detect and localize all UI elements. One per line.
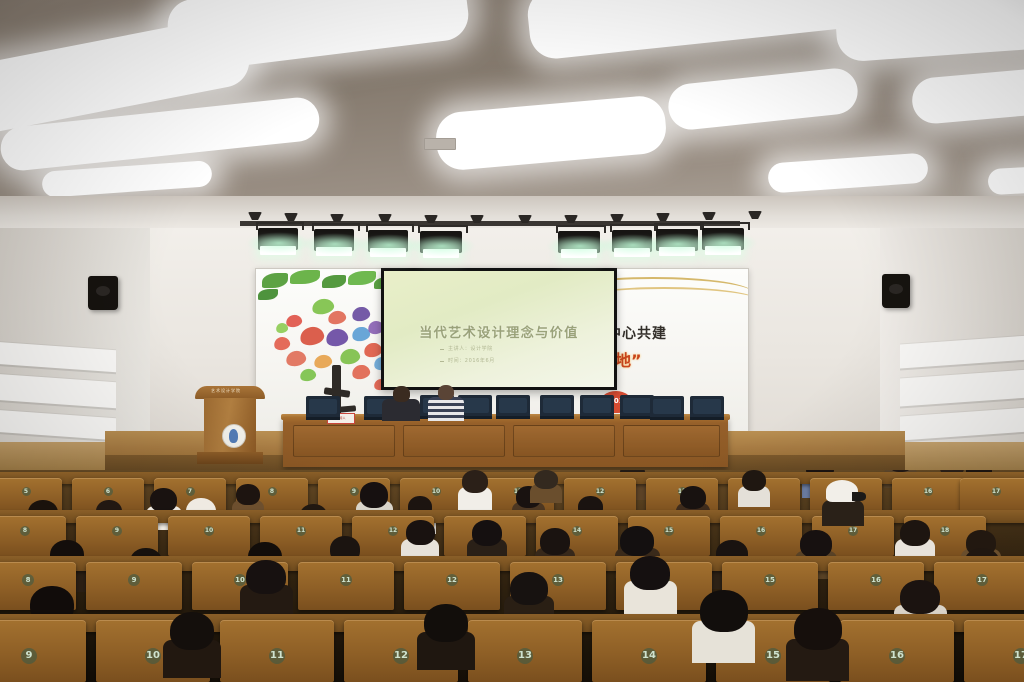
panelist-torso <box>428 397 464 421</box>
ceiling-light-panel-4 <box>834 0 1024 63</box>
seat-back[interactable]: 10 <box>168 516 250 556</box>
cap-brim <box>852 492 866 501</box>
audience-member <box>794 608 842 682</box>
ceiling-lower-band <box>0 196 1024 232</box>
audience-member-head <box>540 528 570 555</box>
seat-number: 9 <box>350 487 359 496</box>
audience-member-head <box>800 530 832 558</box>
panelist-head <box>438 385 454 400</box>
seat-number: 16 <box>924 487 933 496</box>
audience-member-head <box>900 580 940 614</box>
seat-number: 13 <box>517 648 533 664</box>
capped-person-torso <box>822 500 864 526</box>
seat-number: 16 <box>889 648 905 664</box>
audience-member-head <box>620 526 654 556</box>
stage-chair-6 <box>540 395 574 419</box>
head-table: 主持人 <box>283 417 728 467</box>
seat-back[interactable]: 11 <box>220 620 334 682</box>
seat-number: 8 <box>268 487 277 496</box>
seat-back[interactable]: 9 <box>0 620 86 682</box>
seat-number: 17 <box>1013 648 1024 664</box>
seat-number: 9 <box>112 526 122 536</box>
panelist-head <box>393 386 410 402</box>
seat-number: 5 <box>22 487 31 496</box>
seat-number: 7 <box>186 487 195 496</box>
seat-number: 15 <box>765 648 781 664</box>
audience-member <box>700 590 748 670</box>
seat-back[interactable]: 16 <box>840 620 954 682</box>
seat-number: 17 <box>992 487 1001 496</box>
audience-member-head <box>700 590 748 632</box>
seat-number: 6 <box>104 487 113 496</box>
speaker-podium: 艺术设计学院 <box>199 386 261 464</box>
seat-back[interactable]: 11 <box>298 562 394 610</box>
seat-back[interactable]: 13 <box>468 620 582 682</box>
stage-chair-10 <box>690 396 724 420</box>
left-wall-speaker <box>88 276 118 310</box>
auditorium-photo: 血液中心共建 育基地” 式 2016 当代艺术设计理念与价值 主讲人：设计学院 … <box>0 0 1024 682</box>
audience-member-head <box>794 608 842 650</box>
stage-chair-9 <box>650 396 684 420</box>
seat-back[interactable]: 12 <box>404 562 500 610</box>
audience-member-head <box>900 520 930 546</box>
seat-number: 11 <box>269 648 285 664</box>
audience-member <box>170 612 214 682</box>
audience-member-head <box>360 482 388 508</box>
audience-member-head <box>510 572 548 605</box>
panelist-right <box>428 385 464 424</box>
ceiling-light-panel-11 <box>987 163 1024 195</box>
audience-member-head <box>472 520 502 546</box>
seat-number: 14 <box>641 648 657 664</box>
audience-member <box>534 470 558 506</box>
seat-number: 10 <box>432 487 441 496</box>
stage-chair-1 <box>306 396 340 420</box>
stage-chair-5 <box>496 395 530 419</box>
seat-number: 16 <box>870 574 882 586</box>
seat-number: 10 <box>145 648 161 664</box>
podium-label: 艺术设计学院 <box>199 388 253 394</box>
stage-chair-8 <box>620 395 654 419</box>
audience-member-head <box>680 486 706 509</box>
audience-member-head <box>534 470 558 489</box>
audience-member-head <box>236 484 260 505</box>
seat-number: 12 <box>393 648 409 664</box>
audience-member-head <box>742 470 766 491</box>
slide-title: 当代艺术设计理念与价值 <box>384 322 614 341</box>
spotlight-glow-4 <box>408 235 476 257</box>
seat-number: 10 <box>234 574 246 586</box>
projection-screen: 当代艺术设计理念与价值 主讲人：设计学院 时间：2016年6月 <box>381 268 617 390</box>
seat-number: 11 <box>340 574 352 586</box>
seat-back[interactable]: 14 <box>592 620 706 682</box>
seat-number: 18 <box>940 526 950 536</box>
seat-number: 16 <box>756 526 766 536</box>
audience-member-head <box>462 470 488 493</box>
ceiling-vent-1 <box>424 138 456 150</box>
seat-number: 9 <box>21 648 37 664</box>
stage-chair-7 <box>580 395 614 419</box>
seat-number: 10 <box>204 526 214 536</box>
spotlight-glow-8 <box>690 232 758 254</box>
podium-body <box>204 398 256 453</box>
seat-back[interactable]: 17 <box>960 478 1024 514</box>
seat-number: 15 <box>664 526 674 536</box>
university-crest-icon <box>222 424 246 448</box>
seat-number: 17 <box>976 574 988 586</box>
slide-bullet-1: 主讲人：设计学院 <box>448 345 493 352</box>
audience-member <box>462 470 488 514</box>
seat-number: 8 <box>22 574 34 586</box>
speaker-cone-icon <box>889 284 902 294</box>
seat-back[interactable]: 16 <box>892 478 964 514</box>
projection-screen-surface: 当代艺术设计理念与价值 主讲人：设计学院 时间：2016年6月 <box>384 271 614 387</box>
right-wall-speaker <box>882 274 910 308</box>
podium-base <box>197 452 263 464</box>
audience-member-head <box>246 560 286 594</box>
seat-number: 9 <box>128 574 140 586</box>
speaker-cone-icon <box>96 286 110 296</box>
ceiling-light-panel-6 <box>434 94 668 172</box>
audience-member-head <box>150 488 177 512</box>
panelist-torso <box>382 399 420 421</box>
audience-member <box>742 470 766 510</box>
seat-number: 11 <box>296 526 306 536</box>
seat-back[interactable]: 17 <box>934 562 1024 610</box>
ceiling-light-panel-8 <box>910 65 1024 126</box>
seat-number: 12 <box>596 487 605 496</box>
person-with-white-cap <box>826 480 860 526</box>
seat-number: 12 <box>446 574 458 586</box>
seat-number: 12 <box>388 526 398 536</box>
audience-member <box>424 604 468 676</box>
ceiling-light-panel-3 <box>525 0 861 61</box>
seat-back[interactable]: 17 <box>964 620 1024 682</box>
seat-number: 8 <box>20 526 30 536</box>
audience-member-head <box>630 556 670 590</box>
seat-back[interactable]: 9 <box>86 562 182 610</box>
seat-number: 13 <box>552 574 564 586</box>
seat-number: 15 <box>764 574 776 586</box>
audience-member <box>630 556 670 621</box>
audience-member-head <box>406 520 435 545</box>
audience-member-head <box>424 604 468 642</box>
seat-number: 14 <box>572 526 582 536</box>
panelist-left <box>382 386 420 424</box>
ceiling-light-panel-10 <box>767 152 929 193</box>
audience-seating-area: 5678910111213141516178910111213141516171… <box>0 470 1024 682</box>
slide-bullet-2: 时间：2016年6月 <box>448 357 495 364</box>
seat-number: 17 <box>848 526 858 536</box>
ceiling-light-panel-7 <box>666 66 860 132</box>
audience-member-head <box>170 612 214 650</box>
